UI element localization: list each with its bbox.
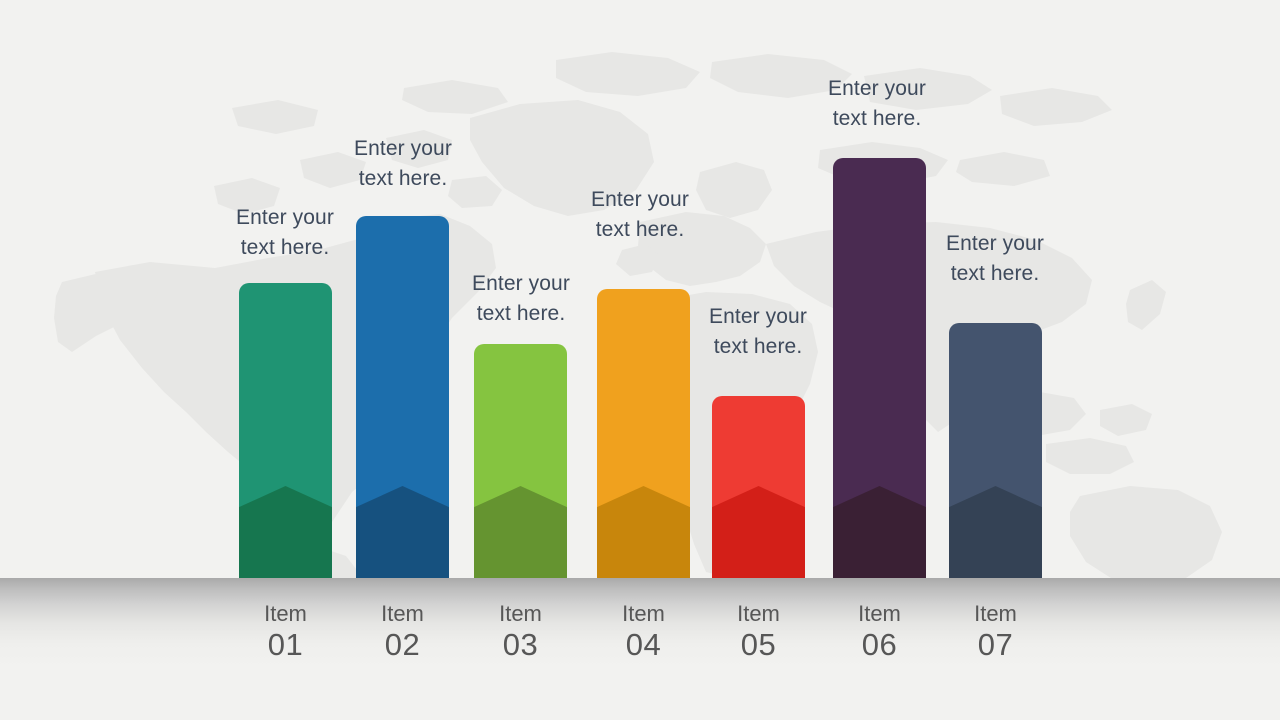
callout-text-04[interactable]: Enter your text here. [545, 185, 735, 245]
axis-label-number-07: 07 [921, 627, 1071, 663]
bar-group-06[interactable] [833, 158, 926, 578]
slide-canvas: Enter your text here.Enter your text her… [0, 0, 1280, 720]
bar-group-05[interactable] [712, 396, 805, 578]
callout-text-01[interactable]: Enter your text here. [190, 203, 380, 263]
callout-text-06[interactable]: Enter your text here. [782, 74, 972, 134]
callout-text-07[interactable]: Enter your text here. [900, 229, 1090, 289]
callout-text-03[interactable]: Enter your text here. [426, 269, 616, 329]
bar-01[interactable] [239, 283, 332, 578]
bar-group-03[interactable] [474, 344, 567, 578]
bar-05[interactable] [712, 396, 805, 578]
bar-03[interactable] [474, 344, 567, 578]
bar-group-01[interactable] [239, 283, 332, 578]
bar-06[interactable] [833, 158, 926, 578]
bar-07[interactable] [949, 323, 1042, 578]
axis-label-07: Item07 [921, 601, 1071, 663]
callout-text-02[interactable]: Enter your text here. [308, 134, 498, 194]
callout-text-05[interactable]: Enter your text here. [663, 302, 853, 362]
bar-group-07[interactable] [949, 323, 1042, 578]
axis-label-name-07: Item [921, 601, 1071, 627]
